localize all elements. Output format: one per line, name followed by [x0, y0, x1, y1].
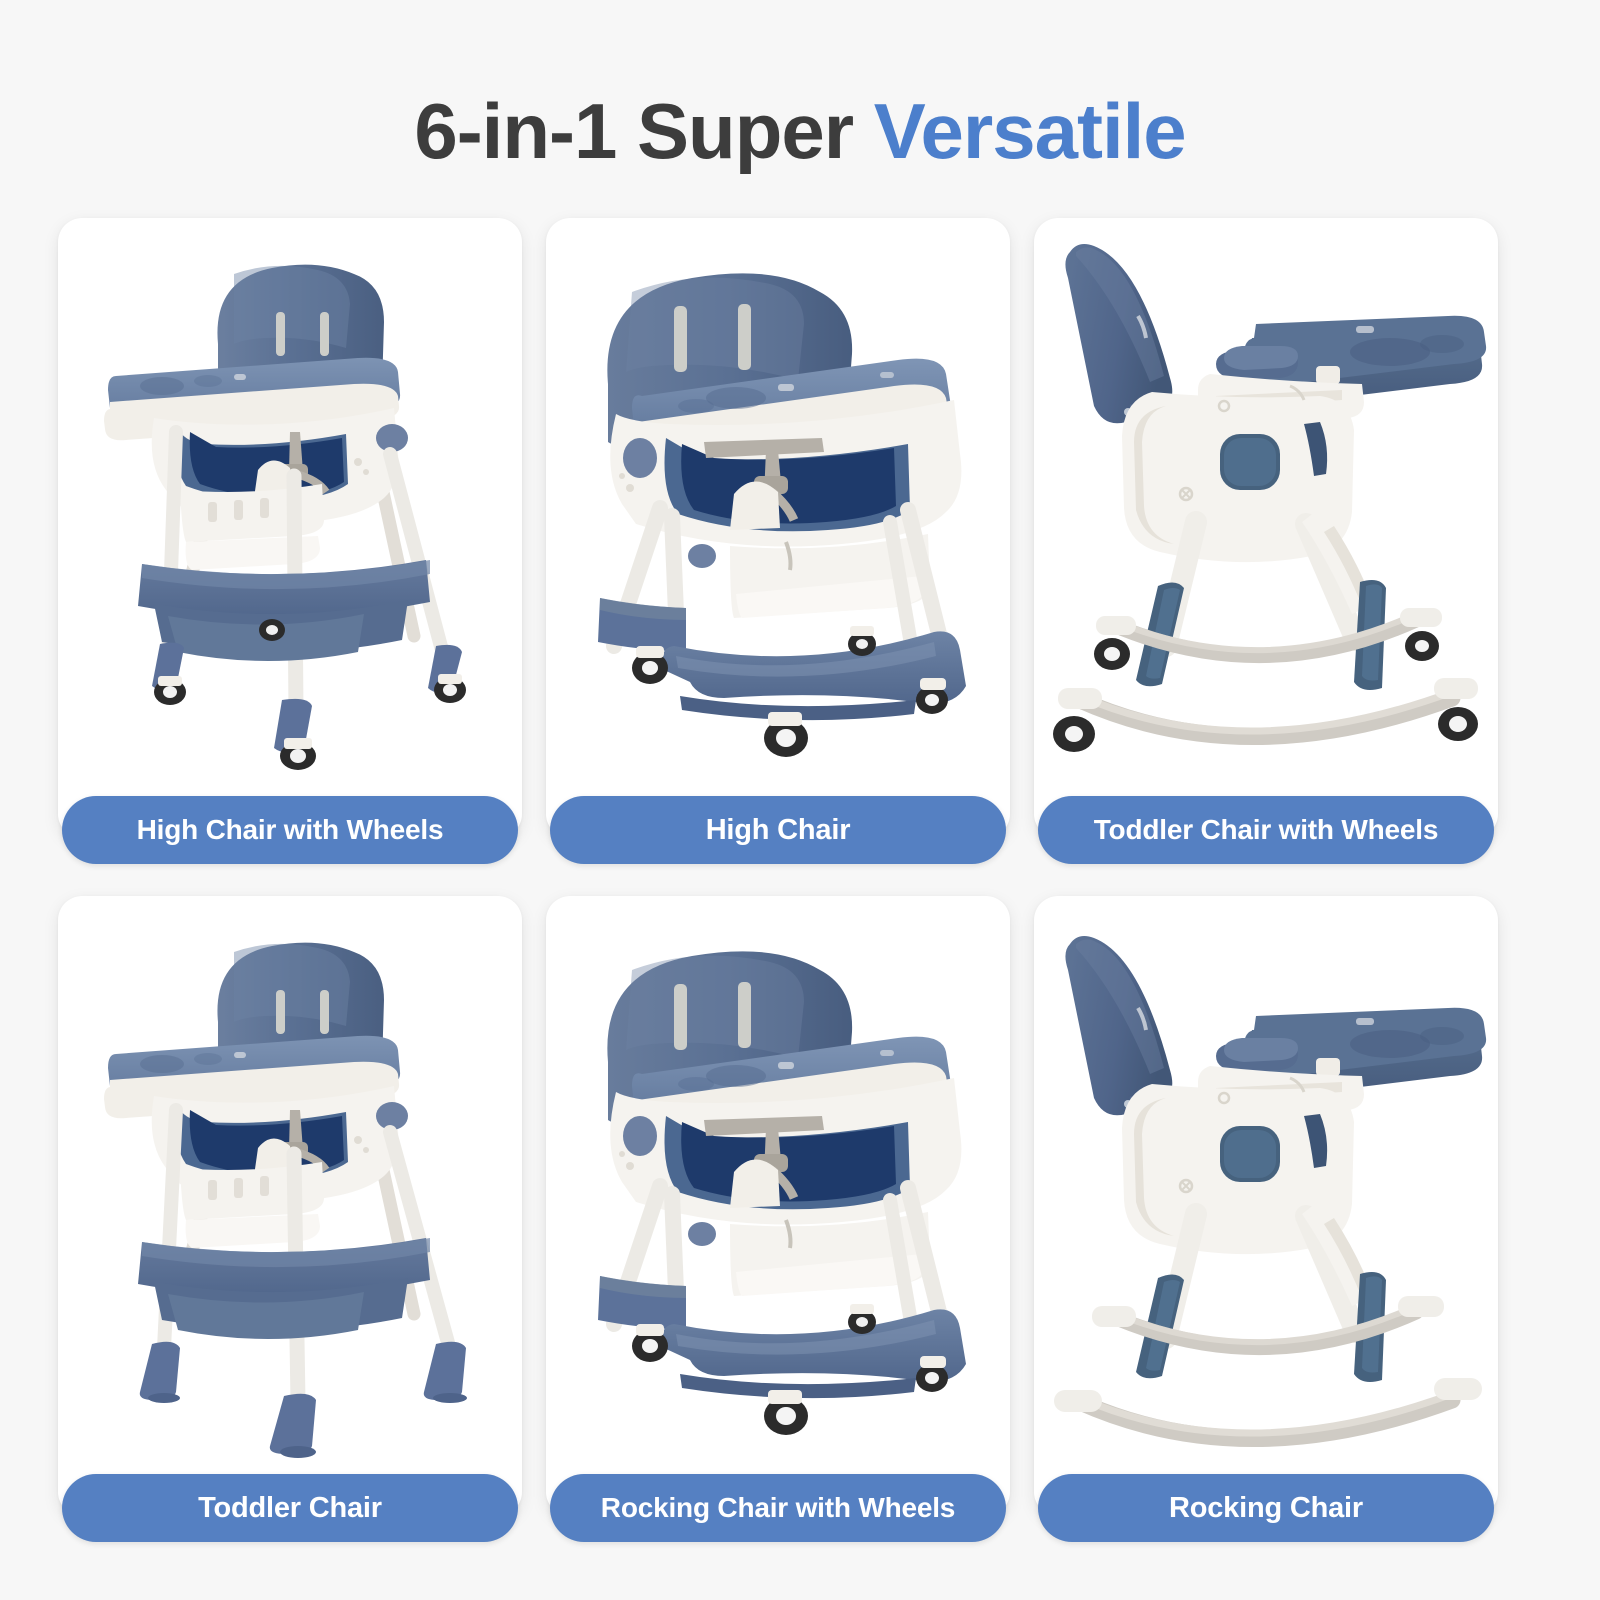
- high-chair-illustration: [546, 226, 1010, 786]
- chair-card-high-chair[interactable]: High Chair: [546, 218, 1010, 838]
- page-title: 6-in-1 Super Versatile: [0, 86, 1600, 177]
- page-title-accent: Versatile: [874, 87, 1186, 175]
- page-title-primary: 6-in-1 Super: [414, 87, 873, 175]
- chair-configuration-grid: High Chair with Wheels: [58, 218, 1542, 1516]
- chair-label-high-chair[interactable]: High Chair: [550, 796, 1006, 864]
- toddler-chair-illustration: [58, 904, 522, 1464]
- versatile-chair-feature-page: 6-in-1 Super Versatile: [0, 0, 1600, 1600]
- chair-card-rocking-chair[interactable]: Rocking Chair: [1034, 896, 1498, 1516]
- chair-label-high-chair-with-wheels[interactable]: High Chair with Wheels: [62, 796, 518, 864]
- chair-card-high-chair-with-wheels[interactable]: High Chair with Wheels: [58, 218, 522, 838]
- chair-card-rocking-chair-with-wheels[interactable]: Rocking Chair with Wheels: [546, 896, 1010, 1516]
- chair-card-toddler-chair-with-wheels[interactable]: Toddler Chair with Wheels: [1034, 218, 1498, 838]
- chair-label-rocking-chair[interactable]: Rocking Chair: [1038, 1474, 1494, 1542]
- chair-label-toddler-chair[interactable]: Toddler Chair: [62, 1474, 518, 1542]
- high-chair-with-wheels-illustration: [58, 226, 522, 786]
- chair-card-toddler-chair[interactable]: Toddler Chair: [58, 896, 522, 1516]
- chair-label-rocking-chair-with-wheels[interactable]: Rocking Chair with Wheels: [550, 1474, 1006, 1542]
- rocking-chair-with-wheels-illustration: [546, 904, 1010, 1464]
- rocking-chair-illustration: [1034, 904, 1498, 1464]
- toddler-chair-with-wheels-illustration: [1034, 226, 1498, 786]
- chair-label-toddler-chair-with-wheels[interactable]: Toddler Chair with Wheels: [1038, 796, 1494, 864]
